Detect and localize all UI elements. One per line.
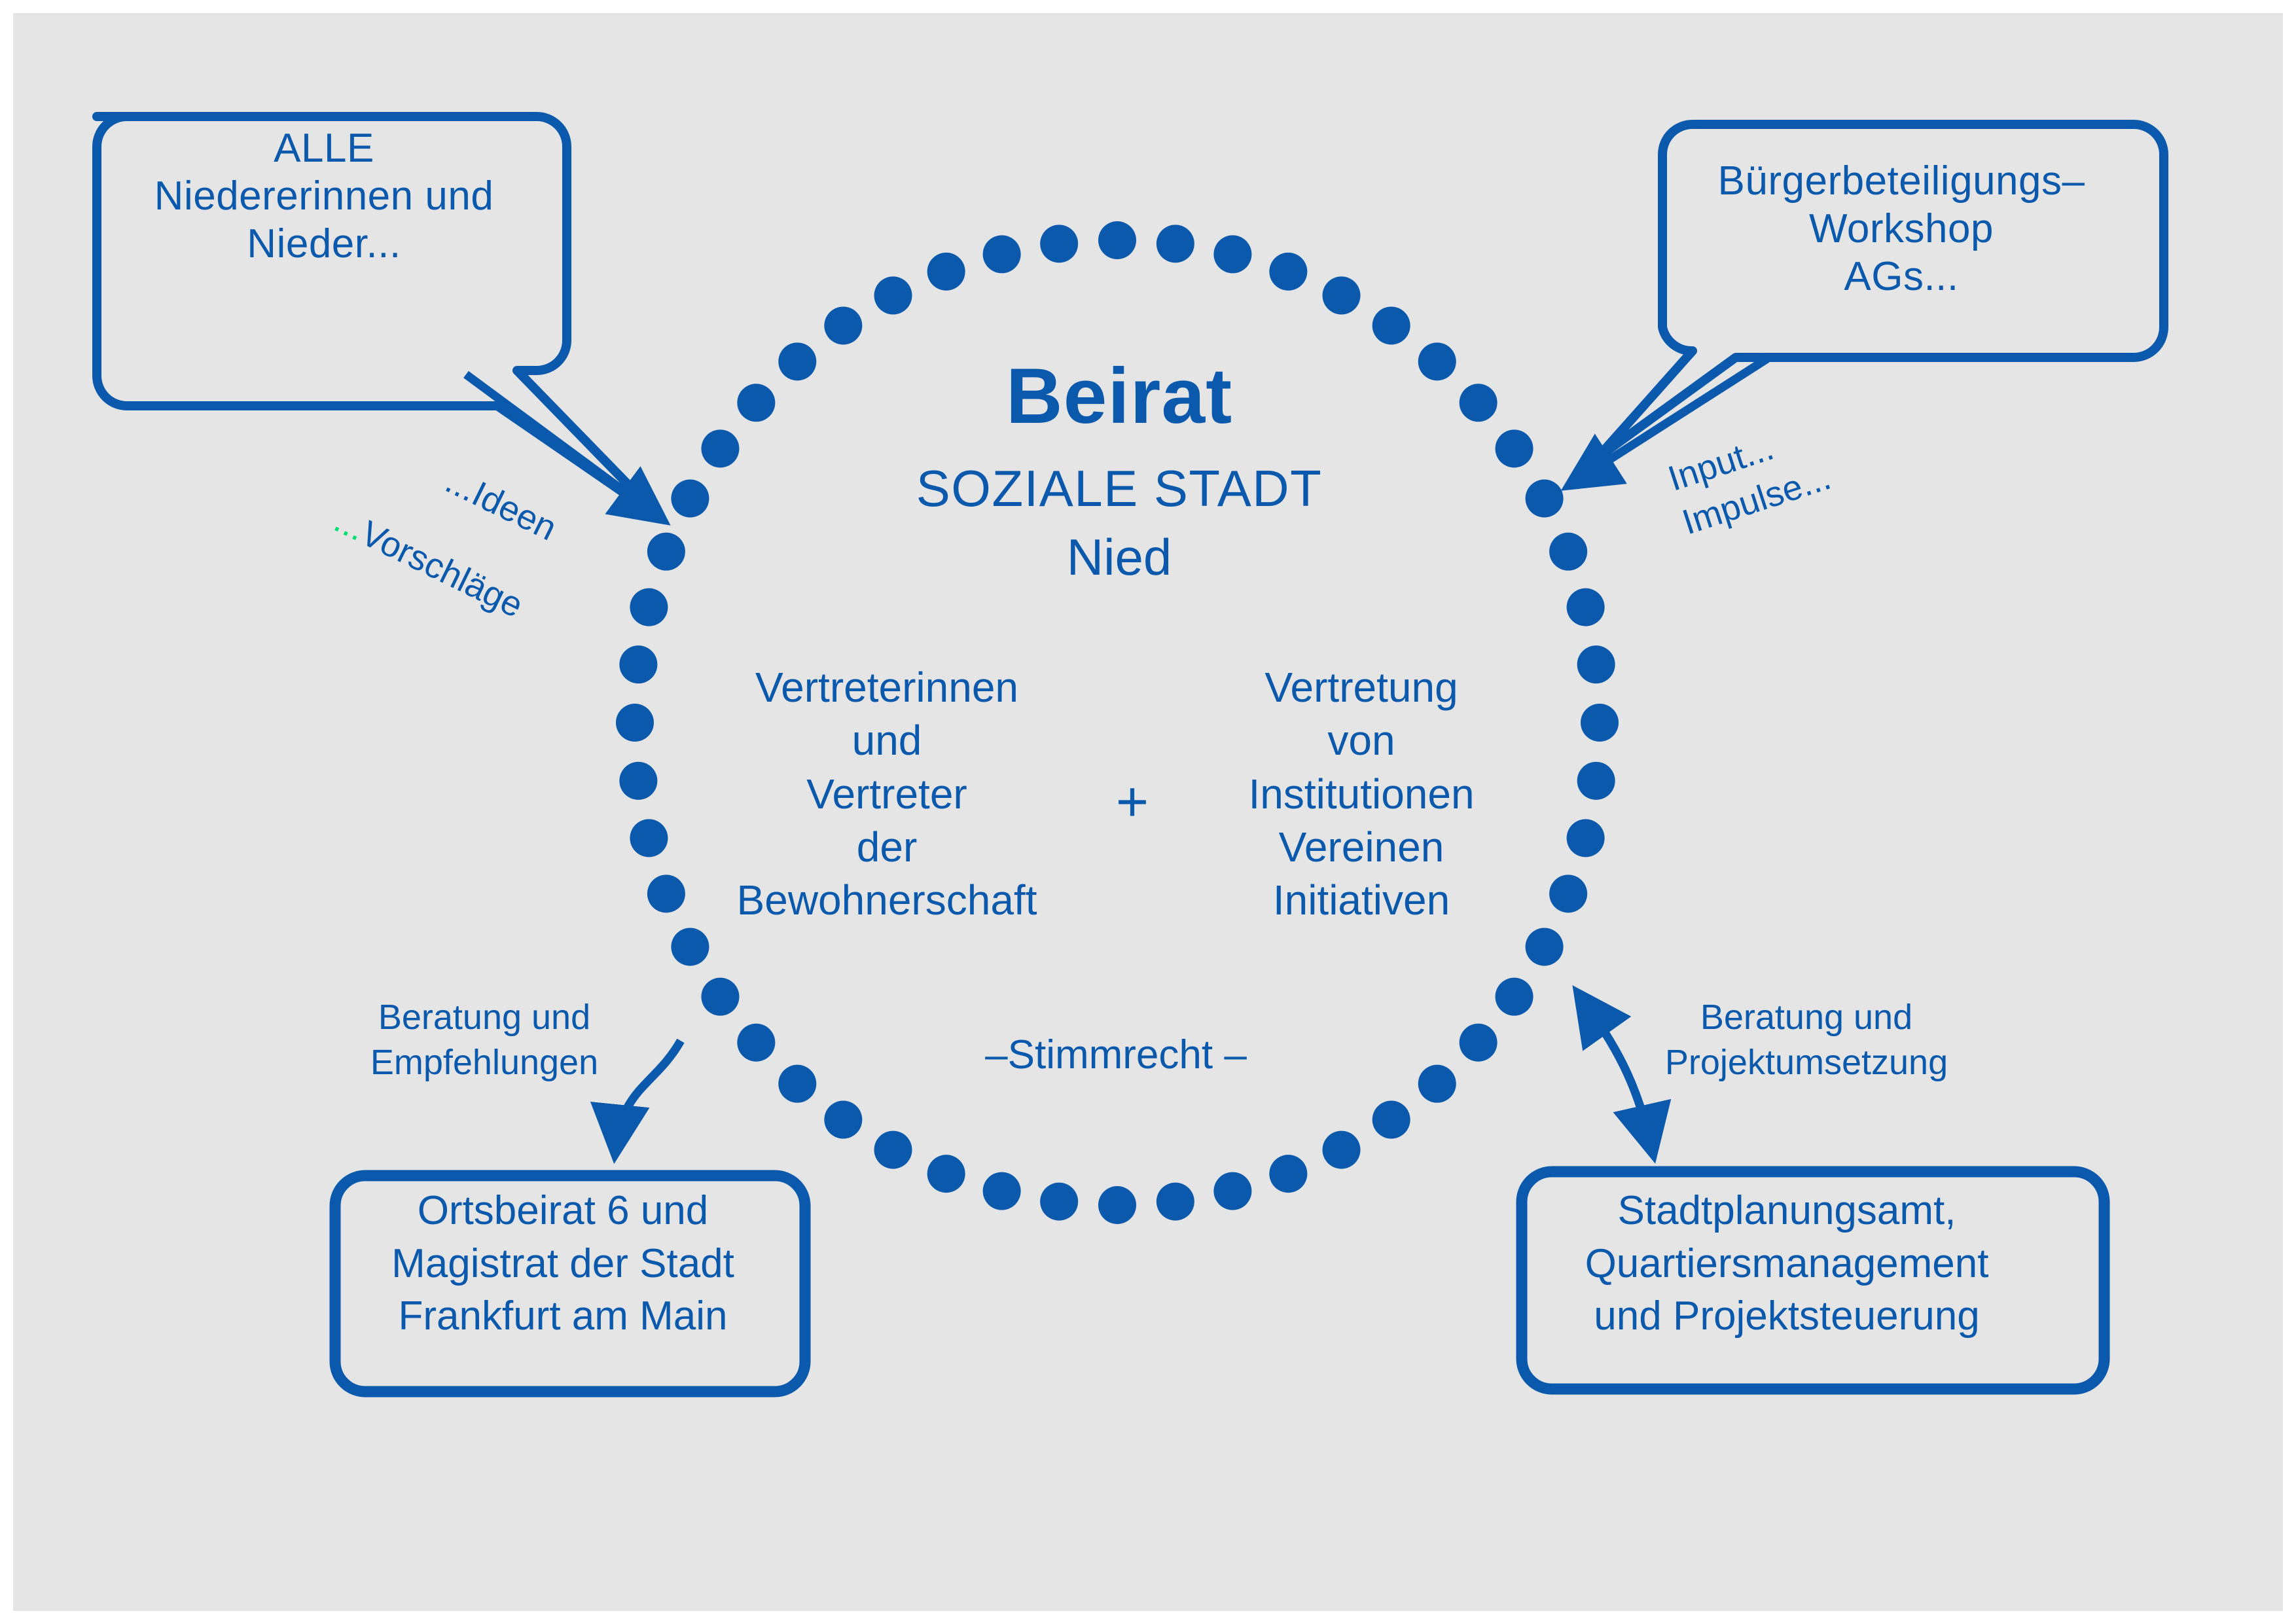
- circle-dot: [616, 704, 654, 742]
- circle-dot: [1418, 1065, 1456, 1103]
- circle-dot: [1460, 384, 1498, 422]
- circle-dot: [1098, 221, 1136, 259]
- annotation-beratung-empfehlungen: Beratung und Empfehlungen: [327, 995, 641, 1085]
- circle-dot: [927, 1155, 965, 1193]
- circle-dot: [1157, 225, 1194, 262]
- circle-dot: [1549, 875, 1587, 912]
- circle-dot: [1567, 819, 1605, 857]
- circle-dot: [1040, 225, 1078, 262]
- circle-dot: [927, 253, 965, 291]
- circle-dot: [737, 384, 775, 422]
- circle-dot: [647, 875, 685, 912]
- circle-dot: [1269, 253, 1307, 291]
- circle-dot: [630, 819, 668, 857]
- circle-dot: [671, 928, 709, 966]
- circle-dot: [1567, 588, 1605, 626]
- circle-dot: [701, 978, 739, 1016]
- box-stadtplanungsamt-label: Stadtplanungsamt, Quartiersmanagement un…: [1505, 1185, 2068, 1343]
- circle-dot: [1323, 276, 1361, 314]
- circle-dot: [1577, 645, 1615, 683]
- circle-dot: [1496, 429, 1534, 467]
- circle-dot: [1581, 704, 1619, 742]
- circle-dot: [1323, 1131, 1361, 1169]
- circle-dot: [737, 1024, 775, 1062]
- column-left-members: Vertreterinnen und Vertreter der Bewohne…: [704, 661, 1070, 927]
- circle-dot: [619, 762, 657, 800]
- circle-dot: [983, 235, 1021, 273]
- circle-dot: [1460, 1024, 1498, 1062]
- circle-dot: [874, 276, 912, 314]
- plus-icon: +: [1073, 769, 1191, 835]
- circle-dot: [1213, 1172, 1251, 1210]
- circle-dot: [1040, 1183, 1078, 1221]
- subtitle-nied: Nied: [798, 527, 1440, 587]
- circle-dot: [1213, 235, 1251, 273]
- circle-dot: [1372, 1101, 1410, 1139]
- circle-dot: [1098, 1186, 1136, 1224]
- bubble-top-left-label: ALLE Niedererinnen und Nieder...: [98, 124, 550, 268]
- diagram-canvas: ALLE Niedererinnen und Nieder... Bürgerb…: [0, 0, 2296, 1624]
- circle-dot: [824, 306, 862, 344]
- page-title: Beirat: [798, 350, 1440, 443]
- circle-dot: [1372, 306, 1410, 344]
- circle-dot: [1549, 533, 1587, 571]
- circle-dot: [671, 480, 709, 518]
- subtitle-soziale-stadt: SOZIALE STADT: [798, 458, 1440, 518]
- circle-dot: [1157, 1183, 1194, 1221]
- bubble-top-right-label: Bürgerbeteiligungs– Workshop AGs...: [1672, 157, 2130, 300]
- circle-dot: [983, 1172, 1021, 1210]
- circle-dot: [824, 1101, 862, 1139]
- box-ortsbeirat-label: Ortsbeirat 6 und Magistrat der Stadt Fra…: [334, 1185, 792, 1343]
- circle-dot: [1269, 1155, 1307, 1193]
- circle-dot: [778, 1065, 816, 1103]
- annotation-beratung-projektumsetzung: Beratung und Projektumsetzung: [1636, 995, 1977, 1085]
- circle-dot: [1496, 978, 1534, 1016]
- circle-dot: [874, 1131, 912, 1169]
- circle-dot: [1526, 928, 1564, 966]
- circle-dot: [701, 429, 739, 467]
- stimmrecht-note: –Stimmrecht –: [913, 1031, 1319, 1079]
- circle-dot: [1577, 762, 1615, 800]
- circle-dot: [1526, 480, 1564, 518]
- column-right-institutions: Vertretung von Institutionen Vereinen In…: [1201, 661, 1522, 927]
